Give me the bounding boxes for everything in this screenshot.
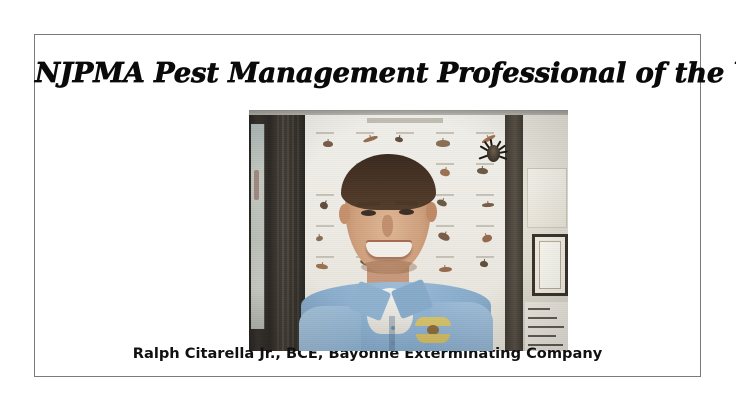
certificate-matting	[539, 241, 561, 289]
award-recipient-photo	[249, 110, 568, 351]
wall-sign-text-line	[528, 335, 556, 337]
poster-insect	[439, 168, 450, 177]
poster-insect-label	[476, 256, 494, 258]
photo-subject-ear-right	[426, 202, 437, 222]
poster-insect-label	[476, 163, 494, 165]
poster-insect	[316, 263, 329, 269]
page-title: NJPMA Pest Management Professional of th…	[35, 57, 700, 89]
photo-subject-smile	[366, 242, 412, 257]
poster-insect-label	[316, 256, 334, 258]
wall-sign	[525, 302, 568, 351]
poster-insect	[480, 261, 488, 268]
poster-insect	[323, 141, 333, 147]
photo-subject-nose	[382, 215, 393, 237]
photo-shirt-placket	[389, 316, 395, 351]
poster-insect	[481, 234, 493, 243]
photo-subject-chin-shadow	[361, 260, 417, 274]
poster-insect-label	[316, 194, 334, 196]
poster-insect-label	[436, 256, 454, 258]
slide-canvas: NJPMA Pest Management Professional of th…	[0, 0, 736, 414]
poster-insect	[363, 135, 379, 143]
poster-insect	[436, 198, 448, 207]
poster-insect	[437, 231, 450, 242]
decorative-spider	[487, 145, 500, 162]
poster-insect	[315, 235, 323, 242]
photo-subject-ear-left	[339, 204, 350, 224]
photo-wall-map-marking	[254, 170, 259, 200]
poster-insect	[435, 140, 449, 147]
poster-insect	[439, 266, 452, 272]
photo-subject-eye-right	[399, 209, 414, 215]
photo-subject-shoulder-left	[299, 306, 361, 351]
poster-insect-label	[356, 132, 374, 134]
poster-insect-label	[476, 225, 494, 227]
poster-header-band	[367, 118, 443, 123]
poster-insect	[395, 136, 403, 142]
poster-insect-label	[436, 132, 454, 134]
photo-door-frame-right	[505, 115, 525, 351]
wall-sign-text-line	[528, 317, 557, 319]
wall-sign-text-line	[528, 308, 550, 310]
poster-insect-label	[436, 194, 454, 196]
photo-subject-eye-left	[361, 210, 376, 216]
poster-insect-label	[436, 225, 454, 227]
poster-insect-label	[316, 225, 334, 227]
photo-wood-grain	[277, 115, 299, 351]
company-logo-patch	[415, 317, 451, 343]
photo-shirt-button	[391, 341, 395, 345]
poster-insect-label	[476, 194, 494, 196]
wall-sign-text-line	[528, 326, 564, 328]
poster-insect	[319, 201, 329, 211]
poster-insect-label	[476, 132, 494, 134]
poster-insect	[477, 167, 488, 174]
logo-patch-bottom-arc	[416, 334, 450, 343]
photo-shirt-button	[391, 326, 395, 330]
poster-insect-label	[436, 163, 454, 165]
photo-wall-map	[251, 124, 265, 329]
framed-certificate-lower	[532, 234, 568, 296]
poster-insect-label	[316, 132, 334, 134]
poster-insect-label	[396, 132, 414, 134]
slide-border-frame: NJPMA Pest Management Professional of th…	[34, 34, 701, 377]
framed-certificate-upper	[527, 168, 567, 228]
poster-insect	[482, 202, 495, 206]
